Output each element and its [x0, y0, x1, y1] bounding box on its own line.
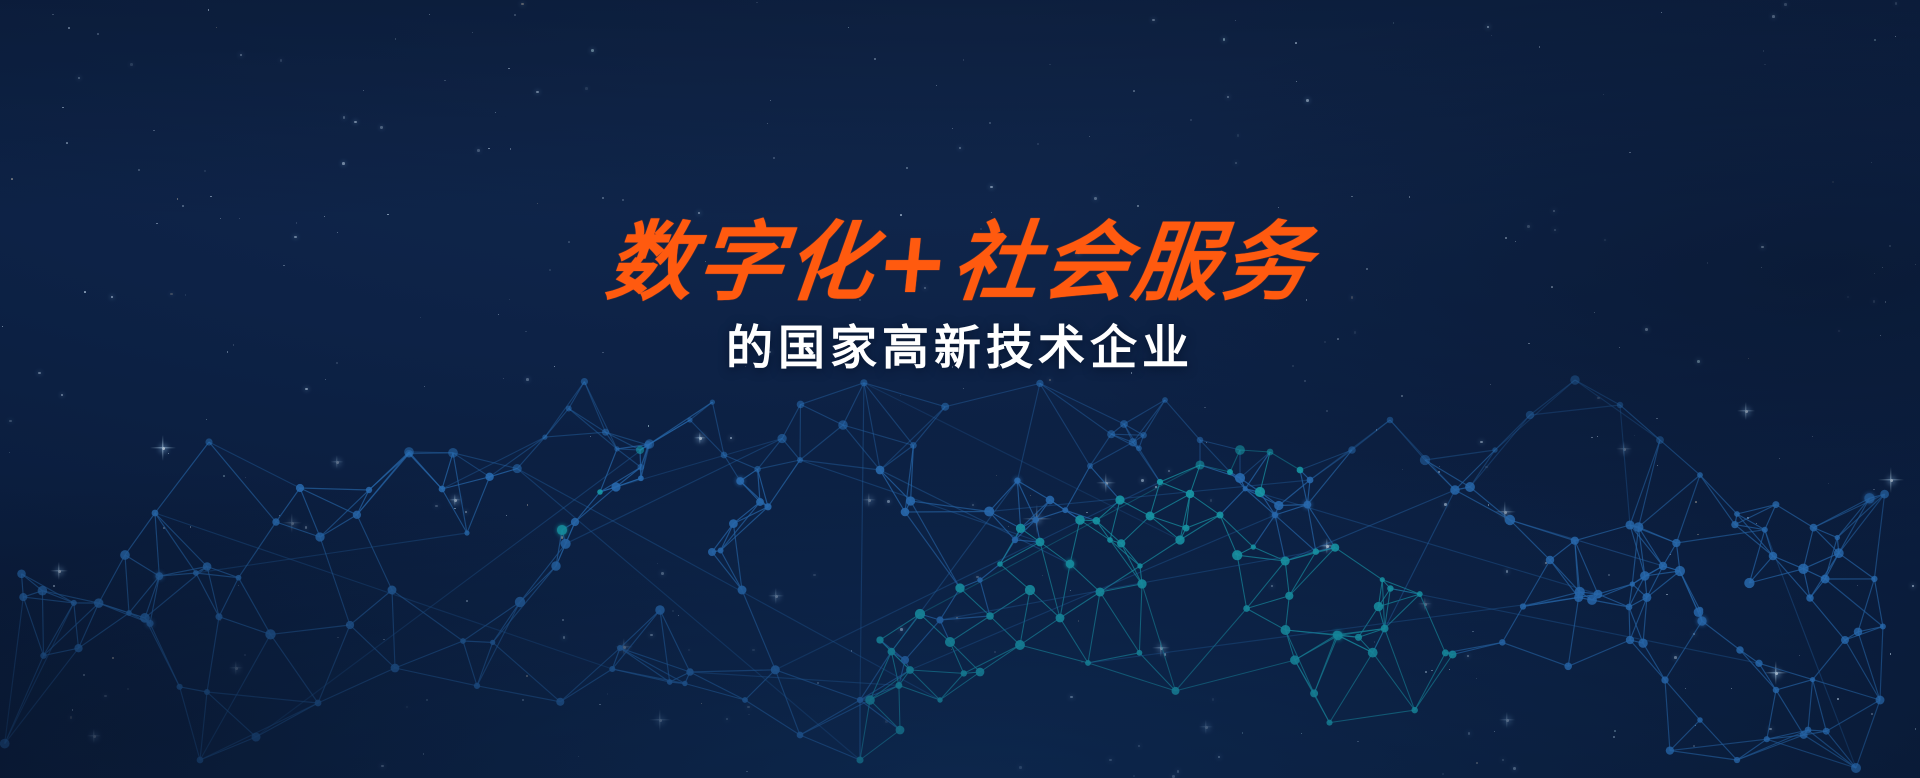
- page-title: 数字化+社会服务: [0, 218, 1920, 309]
- banner-text-block: 数字化+社会服务 的国家高新技术企业: [0, 218, 1920, 375]
- banner-root: 数字化+社会服务 的国家高新技术企业: [0, 0, 1920, 778]
- page-subtitle: 的国家高新技术企业: [0, 323, 1920, 375]
- background-vignette: [0, 0, 1920, 778]
